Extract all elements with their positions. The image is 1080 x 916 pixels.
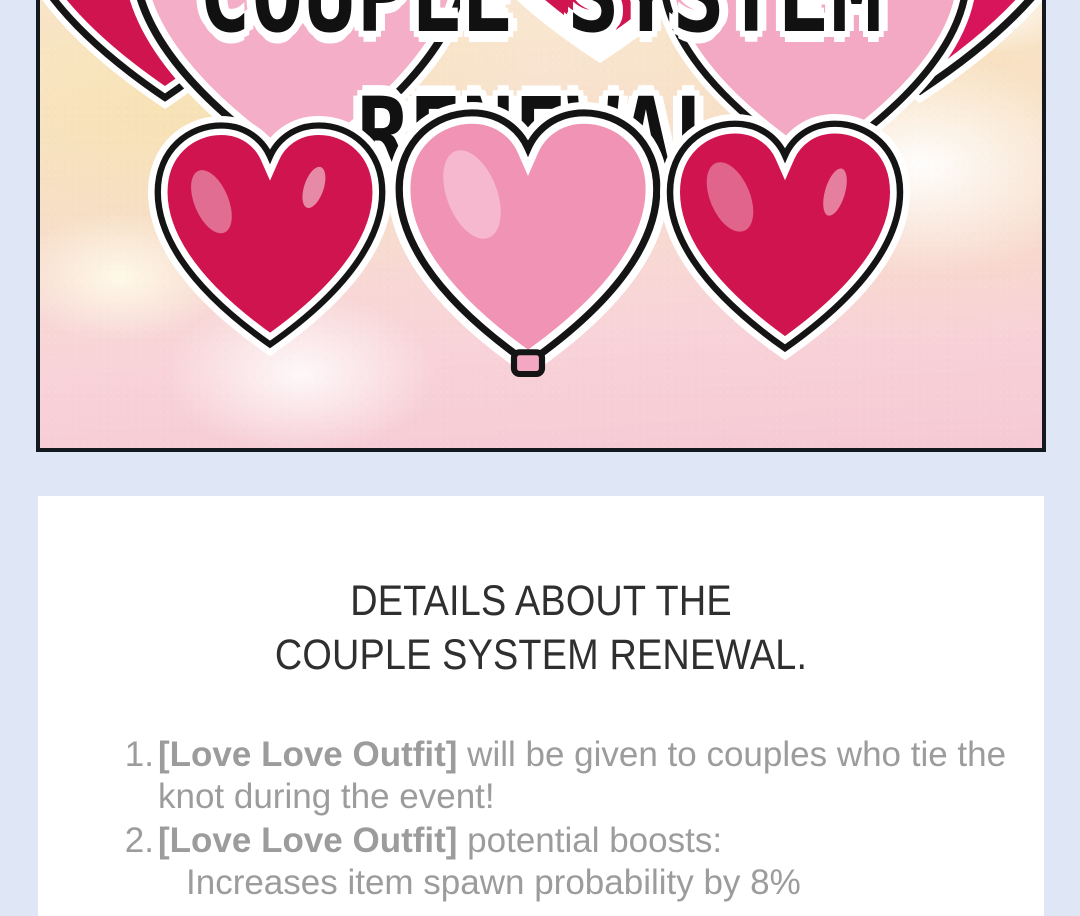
list-item-number: 1. (116, 734, 154, 776)
list-item-subtext: Increases item spawn probability by 8% (158, 862, 1014, 904)
banner-title-line-1: COUPLE SYSTEM (40, 0, 1042, 56)
list-item-highlight: [Love Love Outfit] (158, 821, 457, 860)
page-title-line-1: DETAILS ABOUT THE (134, 574, 949, 628)
page-title: DETAILS ABOUT THE COUPLE SYSTEM RENEWAL. (98, 496, 983, 682)
heart-balloon-crimson-front-right (660, 114, 910, 358)
banner-image: COUPLE SYSTEM RENEWAL (36, 0, 1046, 452)
heart-balloon-pink-front-center (388, 102, 668, 374)
list-item-highlight: [Love Love Outfit] (158, 735, 457, 774)
heart-balloon-crimson-front-left (148, 116, 392, 354)
list-item: 1. [Love Love Outfit] will be given to c… (158, 734, 1014, 818)
list-item-number: 2. (116, 820, 154, 862)
list-item-text: potential boosts: (457, 821, 722, 860)
details-card: DETAILS ABOUT THE COUPLE SYSTEM RENEWAL.… (38, 496, 1044, 916)
page-title-line-2: COUPLE SYSTEM RENEWAL. (134, 628, 949, 682)
list-item: 2. [Love Love Outfit] potential boosts: … (158, 820, 1014, 904)
details-list: 1. [Love Love Outfit] will be given to c… (38, 734, 1044, 904)
